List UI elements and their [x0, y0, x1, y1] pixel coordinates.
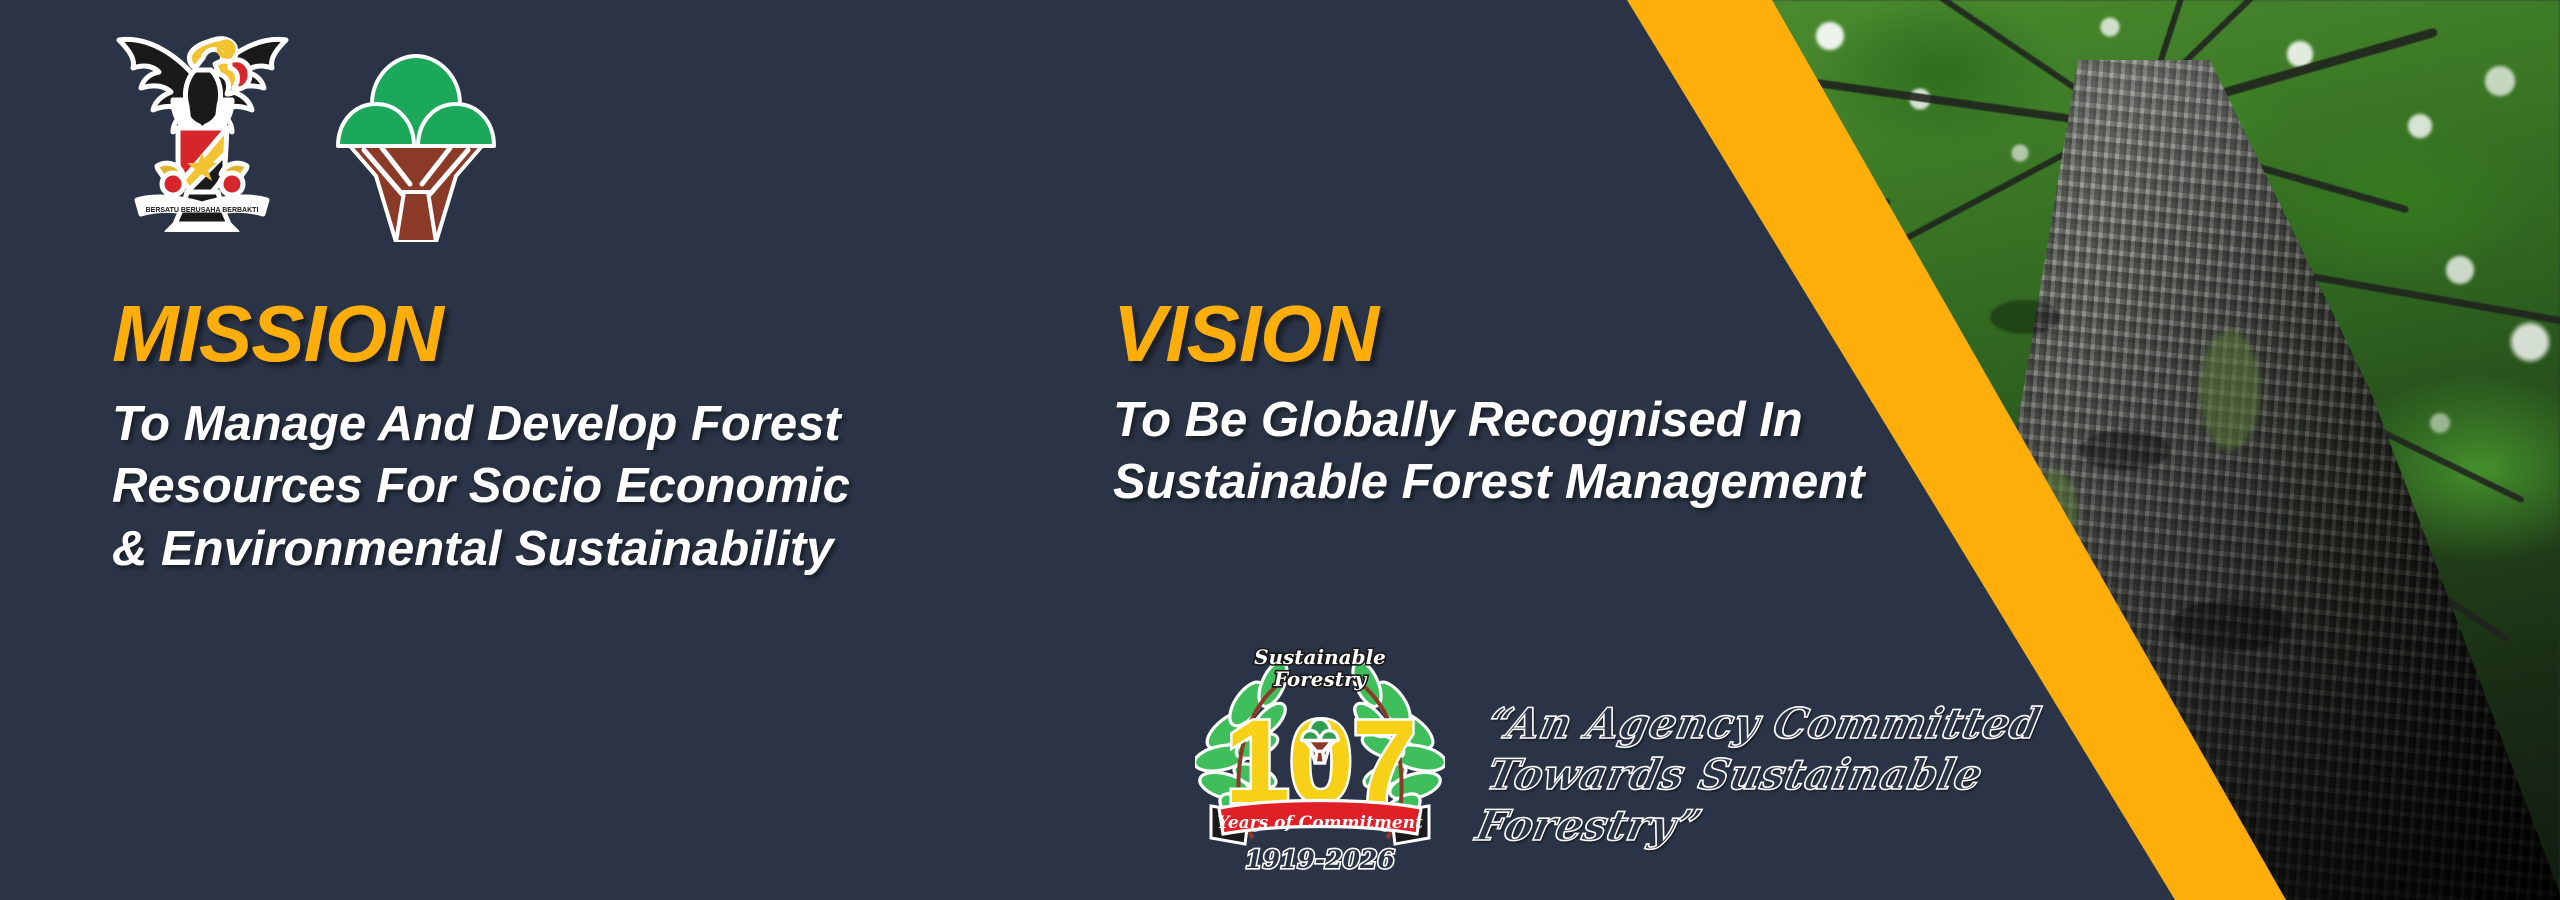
anniversary-year-range: 1919-2026 — [1245, 845, 1395, 874]
mission-vision-banner: BERSATU BERUSAHA BERBAKTI — [0, 0, 2560, 900]
vision-heading: VISION — [1113, 296, 1865, 371]
anniversary-ribbon-text: Years of Commitment — [1217, 813, 1423, 833]
vision-block: VISION To Be Globally Recognised In Sust… — [1113, 296, 1865, 514]
mission-text: To Manage And Develop Forest Resources F… — [112, 393, 850, 580]
vision-text: To Be Globally Recognised In Sustainable… — [1113, 389, 1865, 513]
mission-line-1: To Manage And Develop Forest — [112, 393, 850, 455]
anniversary-top-line2: Forestry — [1273, 667, 1368, 691]
vision-line-2: Sustainable Forest Management — [1113, 451, 1865, 513]
anniversary-107-logo: Sustainable Forestry 107 — [1195, 634, 1445, 884]
mission-line-3: & Environmental Sustainability — [112, 518, 850, 580]
anniversary-top-text: Sustainable Forestry — [1254, 645, 1386, 691]
tagline-line-1: “An Agency Committed — [1484, 699, 2046, 748]
tagline-line-2: Towards Sustainable Forestry” — [1462, 749, 2104, 851]
forest-department-tree-logo-icon — [336, 42, 496, 242]
mission-heading: MISSION — [112, 296, 850, 371]
anniversary-top-line1: Sustainable — [1254, 645, 1386, 669]
mission-line-2: Resources For Socio Economic — [112, 455, 850, 517]
mission-block: MISSION To Manage And Develop Forest Res… — [112, 296, 850, 580]
crest-motto: BERSATU BERUSAHA BERBAKTI — [146, 207, 259, 214]
vision-line-1: To Be Globally Recognised In — [1113, 389, 1865, 451]
sarawak-state-crest-icon: BERSATU BERUSAHA BERBAKTI — [95, 14, 310, 232]
logo-group: BERSATU BERUSAHA BERBAKTI — [95, 14, 496, 242]
agency-tagline: “An Agency Committed Towards Sustainable… — [1462, 698, 2115, 852]
